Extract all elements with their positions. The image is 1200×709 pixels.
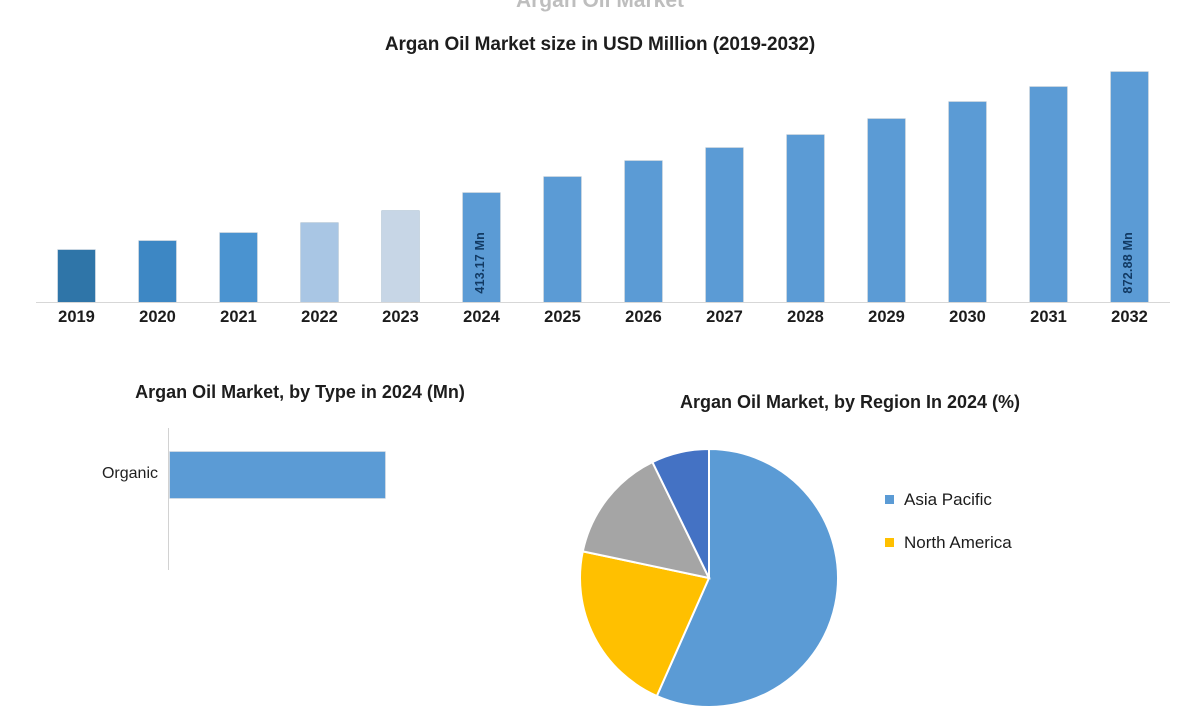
legend-item-asia-pacific[interactable]: Asia Pacific bbox=[885, 478, 1185, 521]
x-tick-2032: 2032 bbox=[1089, 308, 1170, 327]
x-tick-2026: 2026 bbox=[603, 308, 684, 327]
bar-2031[interactable] bbox=[1030, 87, 1067, 302]
market-by-type-chart: Argan Oil Market, by Type in 2024 (Mn) O… bbox=[0, 370, 600, 600]
type-bar-row: Organic bbox=[0, 448, 600, 502]
banner-strip: Argan Oil Market bbox=[0, 0, 1200, 14]
bar-slot bbox=[117, 60, 198, 302]
main-chart-axis-line bbox=[36, 302, 1170, 303]
legend-swatch-icon bbox=[885, 495, 894, 504]
region-pie: Asia Pacific: 47%North America: 18%Europ… bbox=[578, 447, 840, 709]
bar-2019[interactable] bbox=[58, 250, 95, 302]
bar-2026[interactable] bbox=[625, 161, 662, 302]
main-chart-plot-area: 413.17 Mn872.88 Mn bbox=[36, 60, 1170, 302]
x-tick-2031: 2031 bbox=[1008, 308, 1089, 327]
bar-slot bbox=[765, 60, 846, 302]
x-tick-2030: 2030 bbox=[927, 308, 1008, 327]
bar-slot: 872.88 Mn bbox=[1089, 60, 1170, 302]
type-bar-organic[interactable] bbox=[170, 452, 385, 498]
bar-slot bbox=[522, 60, 603, 302]
bar-2024[interactable]: 413.17 Mn bbox=[463, 193, 500, 302]
region-legend: Asia PacificNorth America bbox=[885, 478, 1185, 564]
x-tick-2024: 2024 bbox=[441, 308, 522, 327]
legend-swatch-icon bbox=[885, 538, 894, 547]
bar-slot bbox=[1008, 60, 1089, 302]
bar-slot: 413.17 Mn bbox=[441, 60, 522, 302]
bar-slot bbox=[927, 60, 1008, 302]
legend-item-north-america[interactable]: North America bbox=[885, 521, 1185, 564]
bar-2032[interactable]: 872.88 Mn bbox=[1111, 72, 1148, 302]
bar-2028[interactable] bbox=[787, 135, 824, 302]
bar-2025[interactable] bbox=[544, 177, 581, 302]
x-tick-2021: 2021 bbox=[198, 308, 279, 327]
bar-2029[interactable] bbox=[868, 119, 905, 302]
bar-slot bbox=[846, 60, 927, 302]
x-tick-2022: 2022 bbox=[279, 308, 360, 327]
x-tick-2028: 2028 bbox=[765, 308, 846, 327]
bar-2022[interactable] bbox=[301, 223, 338, 302]
bar-slot bbox=[684, 60, 765, 302]
x-tick-2029: 2029 bbox=[846, 308, 927, 327]
type-category-label-organic: Organic bbox=[0, 465, 158, 483]
bar-slot bbox=[603, 60, 684, 302]
bar-2020[interactable] bbox=[139, 241, 176, 302]
region-chart-title: Argan Oil Market, by Region In 2024 (%) bbox=[610, 389, 1090, 416]
bar-2023[interactable] bbox=[382, 211, 419, 302]
bar-slot bbox=[198, 60, 279, 302]
market-by-region-chart: Argan Oil Market, by Region In 2024 (%) … bbox=[600, 385, 1200, 600]
bar-slot bbox=[360, 60, 441, 302]
market-size-bar-chart: Argan Oil Market size in USD Million (20… bbox=[0, 16, 1200, 346]
bar-2021[interactable] bbox=[220, 233, 257, 302]
bar-2027[interactable] bbox=[706, 148, 743, 302]
x-tick-2019: 2019 bbox=[36, 308, 117, 327]
x-tick-2023: 2023 bbox=[360, 308, 441, 327]
legend-label: Asia Pacific bbox=[904, 490, 992, 510]
legend-label: North America bbox=[904, 533, 1012, 553]
bar-value-label-2024: 413.17 Mn bbox=[473, 232, 491, 294]
x-tick-2027: 2027 bbox=[684, 308, 765, 327]
main-chart-title: Argan Oil Market size in USD Million (20… bbox=[0, 34, 1200, 56]
bar-slot bbox=[36, 60, 117, 302]
bar-2030[interactable] bbox=[949, 102, 986, 302]
x-tick-2020: 2020 bbox=[117, 308, 198, 327]
bar-value-label-2032: 872.88 Mn bbox=[1121, 232, 1139, 294]
bar-slot bbox=[279, 60, 360, 302]
x-tick-2025: 2025 bbox=[522, 308, 603, 327]
banner-title: Argan Oil Market bbox=[0, 0, 1200, 13]
type-chart-title: Argan Oil Market, by Type in 2024 (Mn) bbox=[0, 382, 600, 403]
